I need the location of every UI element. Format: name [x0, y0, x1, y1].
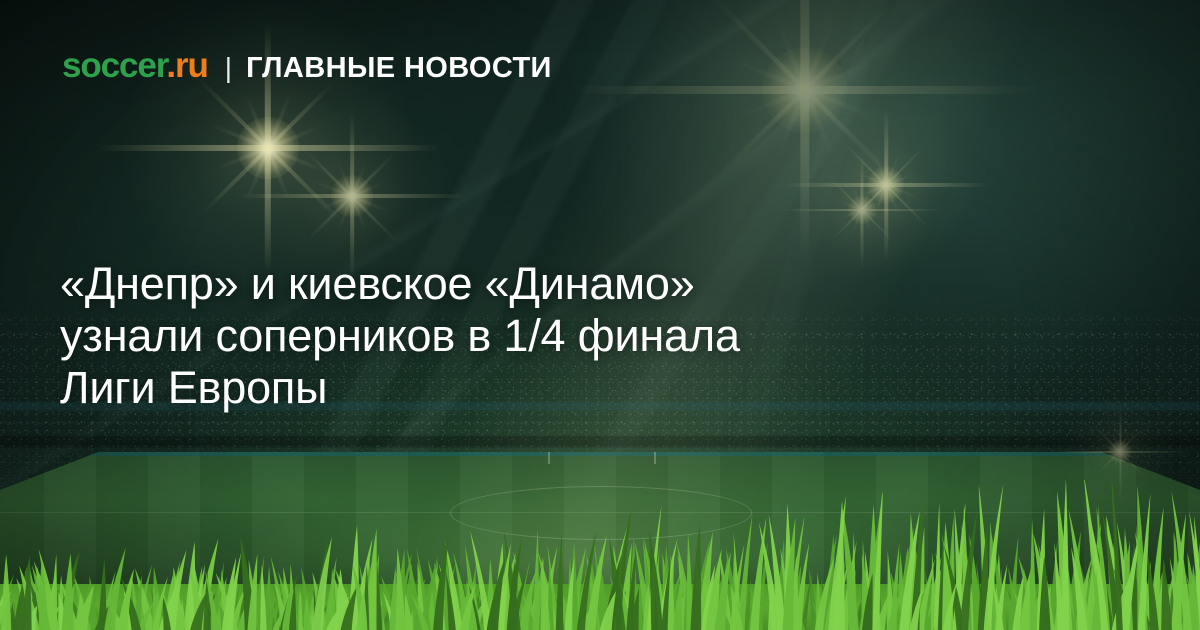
foreground-grass [0, 480, 1200, 630]
page-title: «Днепр» и киевское «Динамо» узнали сопер… [60, 258, 1040, 414]
headline-line-1: «Днепр» и киевское «Динамо» [60, 258, 1040, 310]
grass-blades [0, 480, 1200, 630]
headline-line-2: узнали соперников в 1/4 финала [60, 310, 1040, 362]
section-kicker: ГЛАВНЫЕ НОВОСТИ [246, 54, 552, 83]
logo-text-primary: soccer [62, 46, 166, 85]
grass-blade [556, 533, 563, 630]
grass-blade [690, 523, 701, 630]
news-card: soccer.ru | ГЛАВНЫЕ НОВОСТИ «Днепр» и ки… [0, 0, 1200, 630]
header-divider: | [225, 54, 232, 82]
site-logo[interactable]: soccer.ru [62, 48, 208, 83]
grass-blade [1, 554, 11, 630]
site-header: soccer.ru | ГЛАВНЫЕ НОВОСТИ [62, 48, 552, 83]
logo-text-suffix: .ru [166, 46, 207, 85]
headline-line-3: Лиги Европы [60, 362, 1040, 414]
